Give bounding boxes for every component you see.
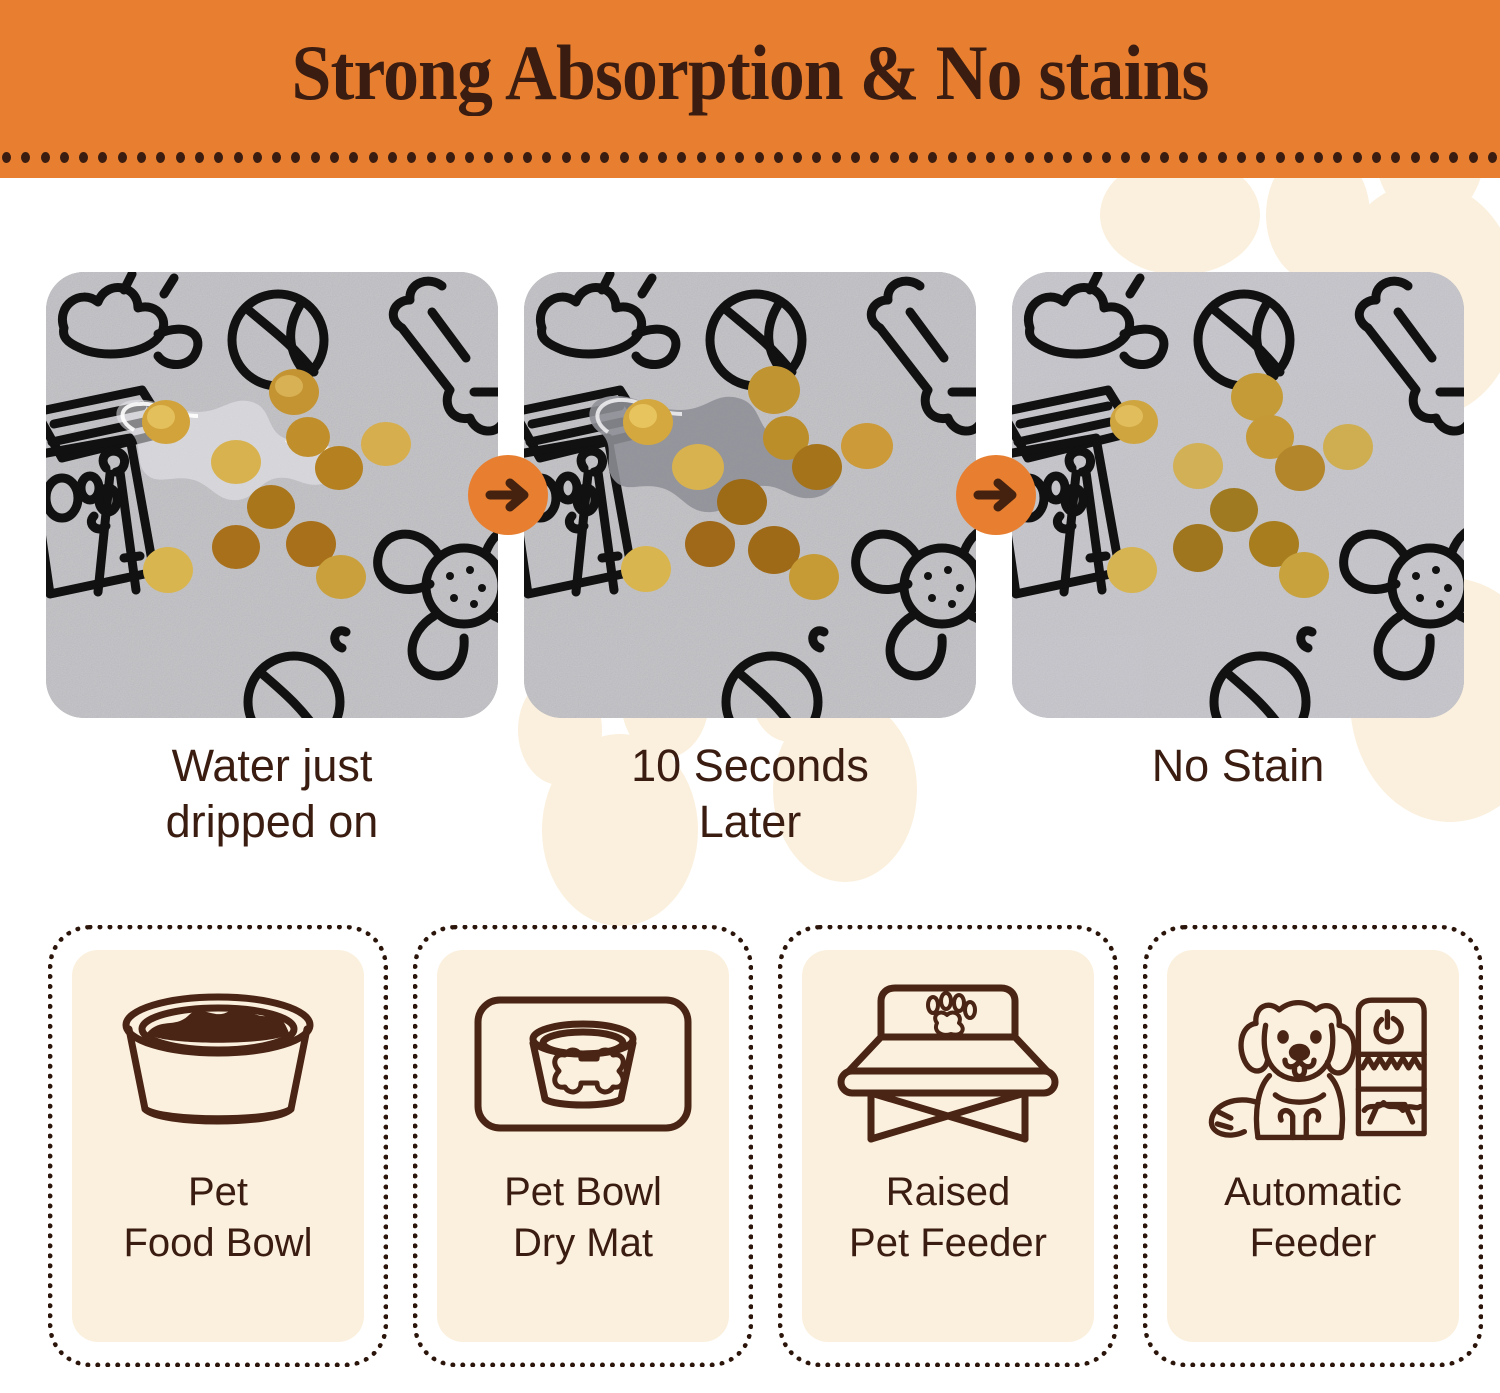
header-divider-dot <box>1141 152 1150 163</box>
header-divider-dot <box>2 152 11 163</box>
header-divider-dot <box>330 152 339 163</box>
arrow-right-icon <box>972 471 1020 519</box>
header-divider-dot <box>446 152 455 163</box>
header-divider-dot <box>195 152 204 163</box>
header-divider-dot <box>369 152 378 163</box>
header-divider-dot <box>542 152 551 163</box>
use-case-label-pet-food-bowl: Pet Food Bowl <box>124 1167 313 1269</box>
header-divider-dot <box>214 152 223 163</box>
header-divider-dot <box>118 152 127 163</box>
header-divider-dot <box>620 152 629 163</box>
use-case-card-automatic-feeder[interactable]: Automatic Feeder <box>1143 925 1483 1367</box>
header-divider-dot <box>484 152 493 163</box>
header-divider-dot <box>523 152 532 163</box>
raised-pet-feeder-icon <box>833 976 1063 1151</box>
header-divider-dot <box>716 152 725 163</box>
header-divider-dot <box>176 152 185 163</box>
use-case-card-pet-food-bowl[interactable]: Pet Food Bowl <box>48 925 388 1367</box>
header-divider-dot <box>156 152 165 163</box>
header-divider-dot <box>851 152 860 163</box>
header-divider-dot <box>1102 152 1111 163</box>
header-divider-dot <box>1276 152 1285 163</box>
header-divider-dot <box>1179 152 1188 163</box>
header-divider-dot <box>79 152 88 163</box>
header-divider-dot <box>1411 152 1420 163</box>
demo-photo-no-stain <box>1012 272 1464 718</box>
header-divider-dot <box>562 152 571 163</box>
header-divider-dot <box>928 152 937 163</box>
header-divider-dot <box>832 152 841 163</box>
header-divider-dot <box>1083 152 1092 163</box>
header-divider-dot <box>21 152 30 163</box>
header-divider-dot <box>1121 152 1130 163</box>
header-divider-dot <box>1314 152 1323 163</box>
page-title: Strong Absorption & No stains <box>60 28 1440 118</box>
header-divider-dot <box>600 152 609 163</box>
header-divider-dot <box>311 152 320 163</box>
header-divider-dot <box>349 152 358 163</box>
caption-ten-seconds-later: 10 Seconds Later <box>524 738 976 850</box>
header-divider-dot <box>1218 152 1227 163</box>
header-divider-dot <box>465 152 474 163</box>
header-divider-dot <box>137 152 146 163</box>
header-divider-dot <box>253 152 262 163</box>
header-divider-dot <box>812 152 821 163</box>
header-divider-dot <box>1005 152 1014 163</box>
header-divider-dot <box>427 152 436 163</box>
header-divider-dot <box>1044 152 1053 163</box>
arrow-right-step-2 <box>956 455 1036 535</box>
header-divider-dot <box>639 152 648 163</box>
caption-water-dripped: Water just dripped on <box>46 738 498 850</box>
automatic-feeder-icon <box>1198 976 1428 1151</box>
header-divider-dot <box>1372 152 1381 163</box>
use-case-card-raised-pet-feeder[interactable]: Raised Pet Feeder <box>778 925 1118 1367</box>
header-dotted-divider <box>0 152 1500 166</box>
header-divider-dot <box>291 152 300 163</box>
header-divider-dot <box>697 152 706 163</box>
header-divider-dot <box>1237 152 1246 163</box>
demo-photo-water-dripped <box>46 272 498 718</box>
header-divider-dot <box>1025 152 1034 163</box>
use-case-label-automatic-feeder: Automatic Feeder <box>1224 1167 1402 1269</box>
header-divider-dot <box>234 152 243 163</box>
header-divider-dot <box>870 152 879 163</box>
use-case-label-raised-pet-feeder: Raised Pet Feeder <box>849 1167 1047 1269</box>
header-divider-dot <box>735 152 744 163</box>
header-divider-dot <box>658 152 667 163</box>
header-divider-dot <box>1430 152 1439 163</box>
header-divider-dot <box>1256 152 1265 163</box>
header-divider-dot <box>967 152 976 163</box>
header-divider-dot <box>890 152 899 163</box>
header-divider-dot <box>581 152 590 163</box>
header-divider-dot <box>1449 152 1458 163</box>
use-case-label-pet-bowl-dry-mat: Pet Bowl Dry Mat <box>504 1167 662 1269</box>
header-divider-dot <box>1488 152 1497 163</box>
pet-food-bowl-icon <box>103 976 333 1151</box>
header-divider-dot <box>272 152 281 163</box>
caption-no-stain: No Stain <box>1012 738 1464 794</box>
header-divider-dot <box>1353 152 1362 163</box>
header-divider-dot <box>1391 152 1400 163</box>
pet-bowl-dry-mat-icon <box>468 976 698 1151</box>
demo-photo-ten-seconds-later <box>524 272 976 718</box>
header-divider-dot <box>1333 152 1342 163</box>
header-divider-dot <box>1063 152 1072 163</box>
use-case-card-pet-bowl-dry-mat[interactable]: Pet Bowl Dry Mat <box>413 925 753 1367</box>
header-divider-dot <box>1295 152 1304 163</box>
use-case-card-row: Pet Food Bowl Pet Bowl Dry Mat <box>0 925 1500 1375</box>
header-divider-dot <box>677 152 686 163</box>
header-divider-dot <box>1469 152 1478 163</box>
header-divider-dot <box>1160 152 1169 163</box>
header-divider-dot <box>1198 152 1207 163</box>
absorption-demo-strip <box>0 272 1500 720</box>
header-divider-dot <box>793 152 802 163</box>
header-divider-dot <box>60 152 69 163</box>
header-divider-dot <box>774 152 783 163</box>
header-divider-dot <box>388 152 397 163</box>
header-divider-dot <box>986 152 995 163</box>
header-banner: Strong Absorption & No stains <box>0 0 1500 178</box>
header-divider-dot <box>407 152 416 163</box>
header-divider-dot <box>504 152 513 163</box>
arrow-right-icon <box>484 471 532 519</box>
header-divider-dot <box>909 152 918 163</box>
header-divider-dot <box>948 152 957 163</box>
arrow-right-step-1 <box>468 455 548 535</box>
header-divider-dot <box>41 152 50 163</box>
header-divider-dot <box>755 152 764 163</box>
header-divider-dot <box>98 152 107 163</box>
